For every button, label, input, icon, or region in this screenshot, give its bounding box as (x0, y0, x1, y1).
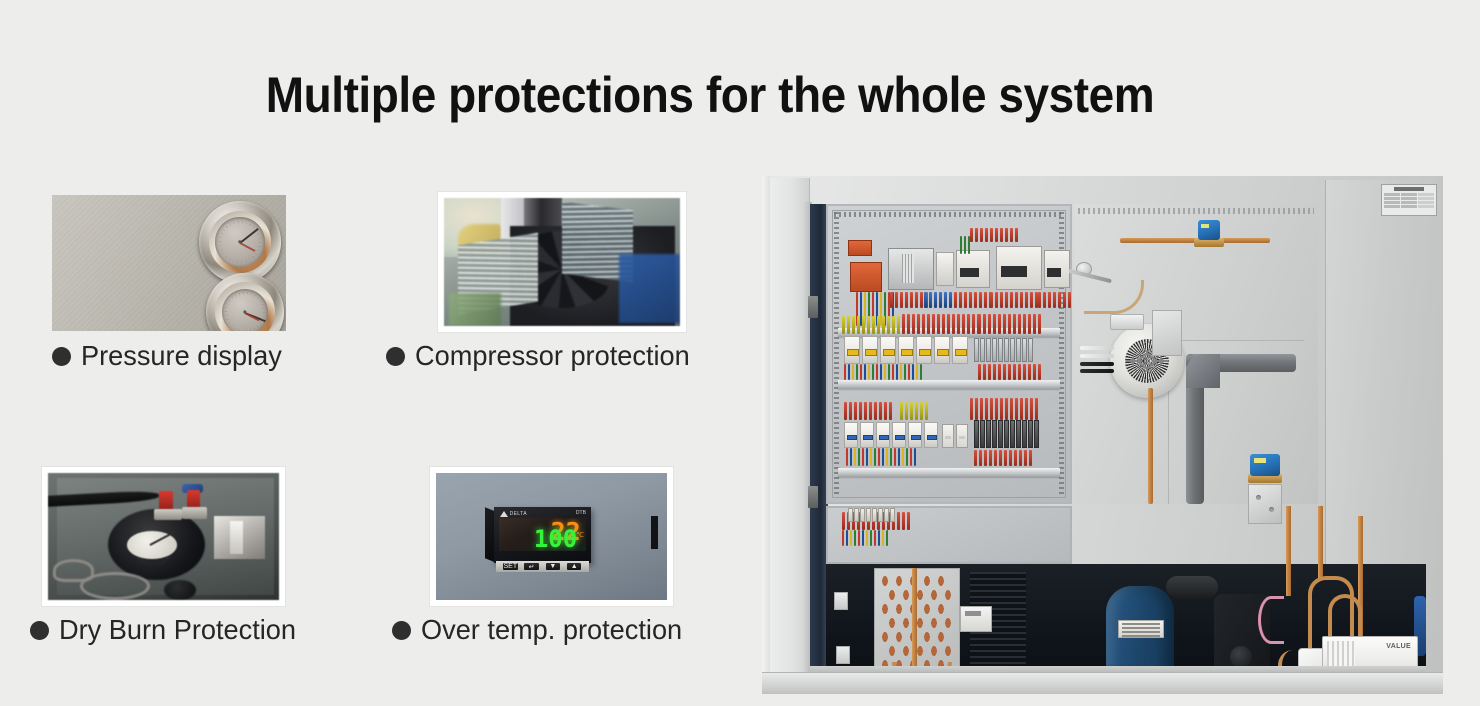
caption-pressure-display: Pressure display (52, 340, 288, 372)
wire-ferrules-red-9 (970, 398, 1038, 420)
pressure-switch (960, 606, 992, 632)
gauge-dial (222, 289, 269, 331)
controller-keypad[interactable]: SET ↵ ▼ ▲ (496, 561, 589, 572)
pipe-clamp (53, 559, 95, 582)
brass-fitting-right (182, 507, 207, 518)
door-hinge-upper (808, 296, 818, 318)
copper-riser-2 (1318, 506, 1323, 580)
caption-label: Dry Burn Protection (59, 614, 296, 646)
controller-brand: DELTA (500, 510, 554, 518)
din-rail-2 (838, 380, 1060, 389)
wire-bundle-3 (846, 448, 916, 466)
wire-ferrules-yellow-1 (842, 316, 900, 334)
circuit-breaker-4 (898, 336, 914, 364)
temperature-controller: DELTA DTB 22 ℃ 100 SET ↵ ▼ ▲ (494, 507, 591, 563)
power-supply-unit (888, 248, 934, 290)
key-down[interactable]: ▼ (546, 563, 560, 570)
terminal-block-orange (850, 262, 882, 292)
nameplate-spec-grid (1384, 193, 1434, 208)
machine-base-rail (762, 672, 1443, 694)
page-title: Multiple protections for the whole syste… (57, 66, 1363, 124)
insulated-pipe-elbow (1186, 354, 1220, 388)
cabinet-left-edge (762, 176, 770, 694)
panel-vent-left (834, 212, 839, 496)
photo-pressure-display (52, 195, 286, 331)
mcb-3 (876, 422, 890, 448)
caption-over-temp-protection: Over temp. protection (392, 614, 690, 646)
wire-bundle-4 (842, 530, 888, 546)
aux-contact-1 (942, 424, 954, 448)
circuit-breaker-7 (952, 336, 968, 364)
photo-pressure-display-image (52, 195, 286, 331)
delta-logo-icon (500, 511, 508, 517)
photo-compressor-protection (438, 192, 686, 332)
photo-compressor-protection-image (444, 198, 680, 326)
motor-cable-bundle (1080, 346, 1114, 374)
condenser-coil (874, 568, 960, 676)
slide-root: Multiple protections for the whole syste… (0, 0, 1480, 706)
caption-label: Pressure display (81, 340, 282, 372)
photo-over-temp-protection-image: DELTA DTB 22 ℃ 100 SET ↵ ▼ ▲ (436, 473, 667, 600)
photo-over-temp-protection: DELTA DTB 22 ℃ 100 SET ↵ ▼ ▲ (430, 467, 673, 606)
photo-dry-burn-protection (42, 467, 285, 606)
aux-contact-2 (956, 424, 968, 448)
metal-bracket (214, 516, 265, 559)
blue-machine-base (619, 254, 680, 323)
mcb-5 (908, 422, 922, 448)
circuit-breaker-1 (844, 336, 860, 364)
copper-pipe-vertical (1148, 388, 1153, 504)
wire-ferrules-yellow-2 (900, 402, 928, 420)
solenoid-valve-lower (1250, 454, 1280, 476)
terminal-row-grey-1 (974, 338, 1033, 362)
receiver-tank-label (1118, 620, 1164, 638)
terminal-row-dark (974, 420, 1039, 448)
ground-wires (960, 236, 970, 254)
wire-ferrules-red-10 (974, 450, 1032, 466)
caption-compressor-protection: Compressor protection (386, 340, 698, 372)
electrical-control-panel (826, 204, 1072, 504)
junction-box-1 (834, 592, 848, 610)
wire-ferrules-red-6 (978, 314, 1041, 334)
green-floor-blur (449, 293, 501, 326)
pink-wiring-loop (1258, 596, 1284, 644)
key-set[interactable]: SET (503, 563, 517, 570)
controller-brand-label: DELTA (510, 511, 527, 517)
wire-ferrules-red-3 (990, 292, 1038, 308)
wire-ferrules-blue-1 (924, 292, 952, 308)
door-hinge-lower (808, 486, 818, 508)
mcb-2 (860, 422, 874, 448)
expansion-module (1044, 250, 1070, 288)
bullet-icon (30, 621, 49, 640)
junction-box-2 (836, 646, 850, 664)
panel-dark-stripe (651, 516, 658, 549)
panel-vent-top (834, 212, 1064, 217)
blower-junction-box (1152, 310, 1182, 356)
machine-nameplate (1381, 184, 1437, 216)
bullet-icon (52, 347, 71, 366)
wire-ferrules-red-8 (844, 402, 892, 420)
blower-terminal-cover (1110, 314, 1144, 330)
mcb-6 (924, 422, 938, 448)
condenser-return-tube (912, 568, 917, 676)
controller-display: 22 ℃ 100 (499, 518, 586, 550)
temperature-unit: ℃ (576, 531, 584, 539)
caption-label: Compressor protection (415, 340, 690, 372)
relay-module (936, 252, 954, 286)
suction-line (1166, 576, 1218, 598)
wire-ferrules-red-7 (978, 364, 1041, 380)
caption-label: Over temp. protection (421, 614, 682, 646)
solenoid-valve-upper (1198, 220, 1220, 240)
timer-module (956, 250, 990, 288)
bullet-icon (386, 347, 405, 366)
mcb-1 (844, 422, 858, 448)
mcb-4 (892, 422, 906, 448)
wire-bundle-2 (844, 364, 922, 380)
wire-ferrules-red-2 (954, 292, 992, 308)
dark-knob (164, 580, 196, 600)
terminal-row-bottom (848, 508, 895, 522)
fuse-block-orange (848, 240, 872, 256)
wire-ferrules-red-5 (902, 314, 980, 334)
caption-dry-burn-protection: Dry Burn Protection (30, 614, 303, 646)
photo-dry-burn-protection-image (48, 473, 279, 600)
plc-controller (996, 246, 1042, 290)
controller-model-label: DTB (576, 510, 586, 516)
bay-vent-strip (1078, 208, 1314, 214)
vacuum-pump-brand: VALUE (1386, 643, 1411, 650)
valve-mount-plate (1248, 484, 1282, 524)
circuit-breaker-2 (862, 336, 878, 364)
nameplate-header-bar (1394, 187, 1424, 191)
din-rail-3 (838, 468, 1060, 477)
wire-ferrules-top (970, 228, 1018, 242)
set-value: 100 (534, 527, 577, 551)
circuit-breaker-3 (880, 336, 896, 364)
brass-fitting-left (154, 509, 182, 520)
gauge-dial (215, 217, 264, 266)
wire-ferrules-red-4 (1038, 292, 1071, 308)
bullet-icon (392, 621, 411, 640)
compressor-mount-foot (1230, 646, 1252, 668)
key-up[interactable]: ▲ (567, 563, 581, 570)
circuit-breaker-5 (916, 336, 932, 364)
pressure-gauge-upper (199, 201, 281, 283)
copper-riser-1 (1286, 506, 1291, 596)
wire-ferrules-red-1 (890, 292, 928, 308)
key-enter[interactable]: ↵ (524, 563, 538, 570)
photo-machine-interior: VALUE (762, 176, 1443, 694)
circuit-breaker-6 (934, 336, 950, 364)
